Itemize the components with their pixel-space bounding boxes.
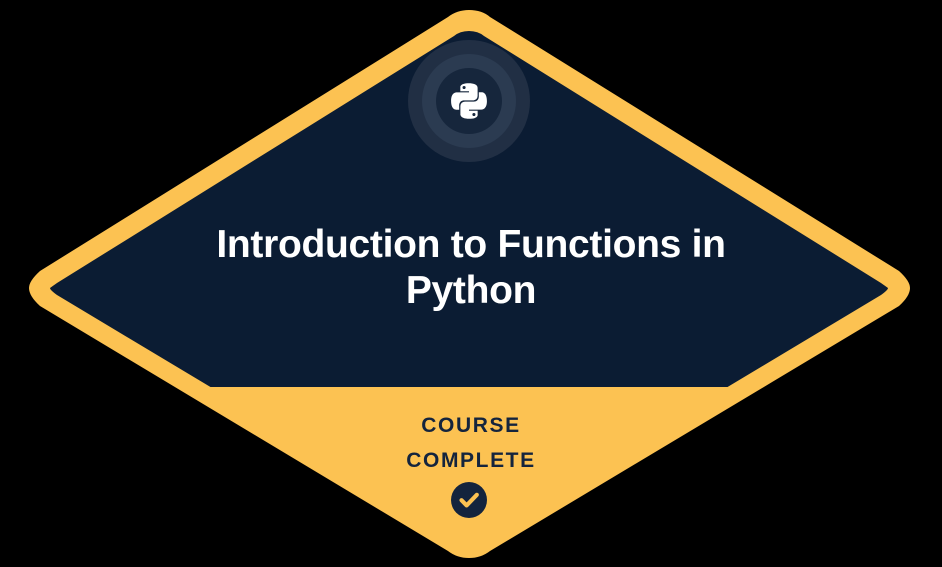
course-completion-badge[interactable]: Introduction to Functions in Python COUR…	[0, 0, 942, 567]
badge-graphic	[0, 0, 942, 567]
emblem-halo	[408, 40, 530, 162]
check-circle-icon	[451, 482, 487, 518]
